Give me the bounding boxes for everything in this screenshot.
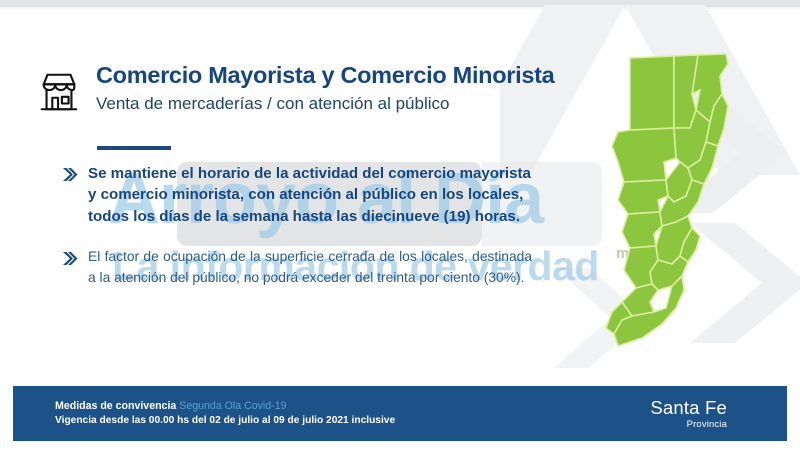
title-divider — [97, 146, 171, 150]
page-subtitle: Venta de mercaderías / con atención al p… — [96, 93, 554, 115]
footer-validity-text: Vigencia desde las 00.00 hs del 02 de ju… — [55, 414, 395, 428]
page-title: Comercio Mayorista y Comercio Minorista — [96, 62, 554, 88]
list-item: Se mantiene el horario de la actividad d… — [62, 163, 532, 227]
double-chevron-icon — [62, 167, 79, 182]
list-item: El factor de ocupación de la superficie … — [62, 247, 532, 288]
bottom-white-gap — [0, 441, 800, 455]
top-edge-band — [0, 0, 800, 7]
bullet-list: Se mantiene el horario de la actividad d… — [62, 163, 532, 309]
double-chevron-icon — [62, 251, 79, 266]
map-svg — [588, 50, 788, 350]
header-block: Comercio Mayorista y Comercio Minorista … — [36, 62, 554, 116]
santa-fe-province-map — [588, 50, 788, 350]
top-edge-band-secondary — [0, 7, 800, 9]
brand-subtitle: Provincia — [650, 418, 727, 429]
footer-title-accent: Segunda Ola Covid-19 — [179, 400, 286, 412]
store-icon — [36, 68, 82, 116]
footer-title-bold: Medidas de convivencia — [55, 400, 176, 412]
footer-band: Medidas de convivenciaSegunda Ola Covid-… — [13, 386, 787, 441]
announcement-slide: Arroyo al Día La información de verdad m… — [0, 0, 800, 455]
footer-title-line: Medidas de convivenciaSegunda Ola Covid-… — [55, 399, 395, 413]
santa-fe-brand-logo: Santa Fe Provincia — [650, 398, 745, 429]
list-item-text: El factor de ocupación de la superficie … — [88, 247, 532, 288]
footer-text-block: Medidas de convivenciaSegunda Ola Covid-… — [55, 399, 395, 429]
list-item-text: Se mantiene el horario de la actividad d… — [88, 163, 532, 227]
brand-name: Santa Fe — [650, 398, 727, 417]
